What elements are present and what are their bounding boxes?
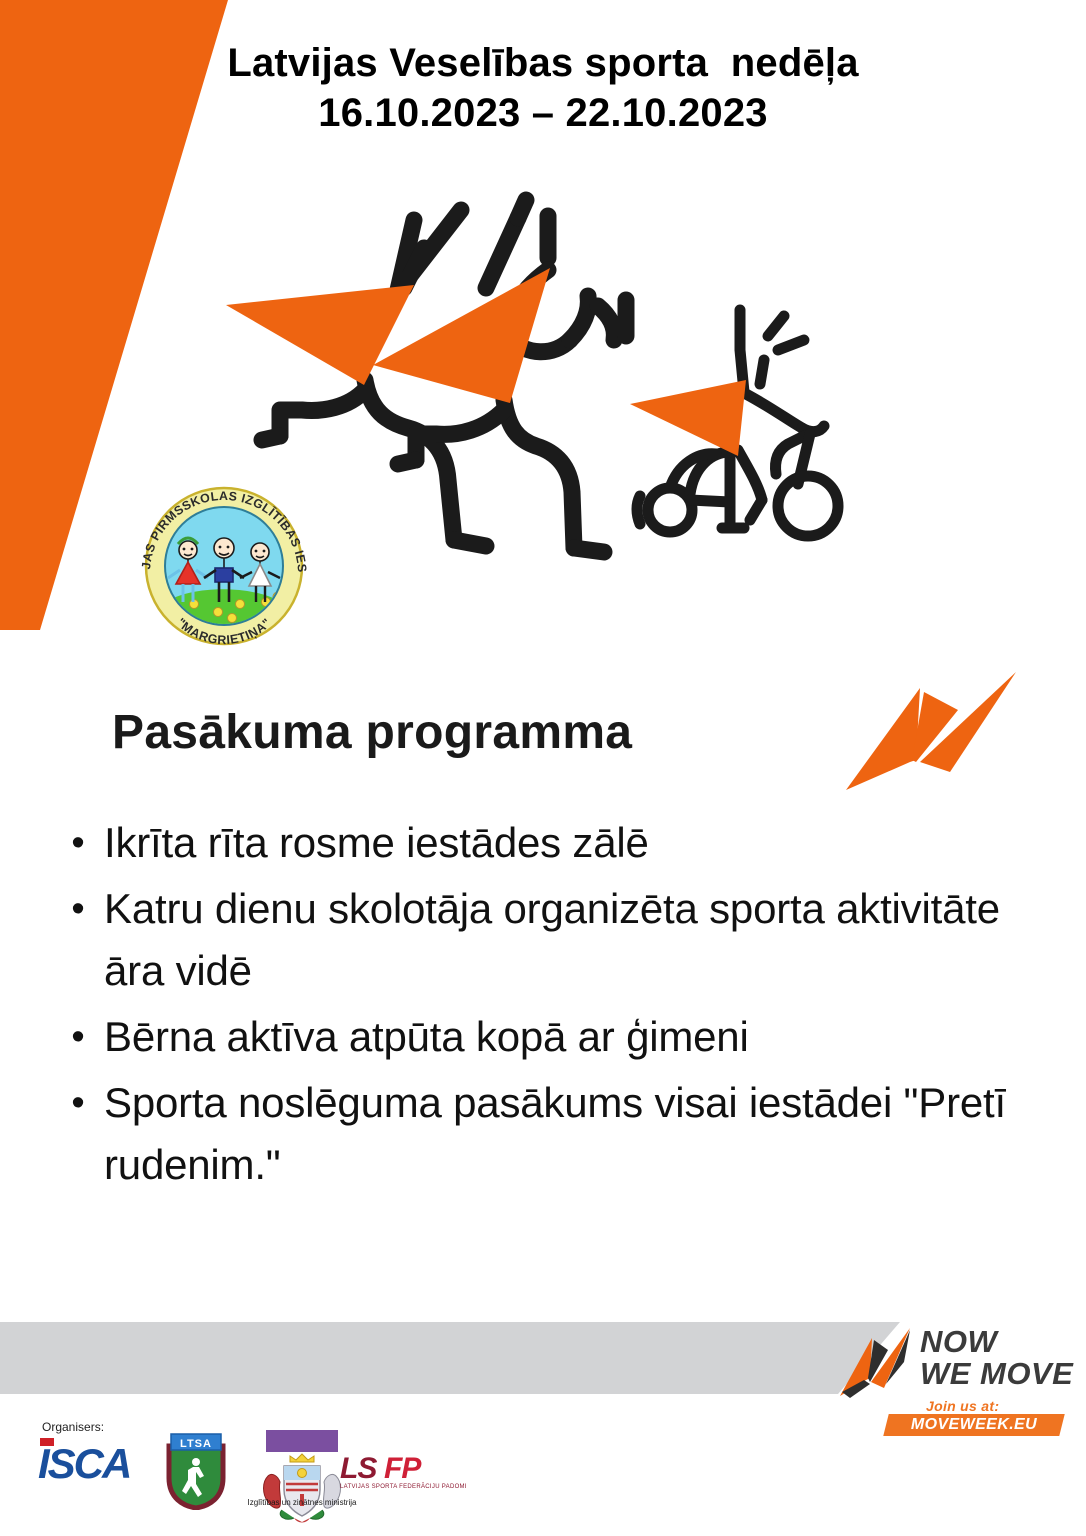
page-title-line1: Latvijas Veselības sporta nedēļa <box>0 38 1086 88</box>
kindergarten-seal-logo: LIEPĀJAS PIRMSSKOLAS IZGLĪTĪBAS IESTĀDE … <box>128 478 320 648</box>
svg-text:LTSA: LTSA <box>180 1438 212 1450</box>
svg-text:FP: FP <box>384 1452 422 1485</box>
izm-coat-of-arms-logo <box>252 1430 352 1534</box>
footer-grey-band <box>0 1322 900 1394</box>
list-item: • Bērna aktīva atpūta kopā ar ģimeni <box>52 1006 1012 1068</box>
list-item: • Sporta noslēguma pasākums visai iestād… <box>52 1072 1012 1196</box>
lsfp-subtitle: LATVIJAS SPORTA FEDERĀCIJU PADOME <box>340 1483 466 1490</box>
program-heading: Pasākuma programma <box>112 705 632 760</box>
list-item-text: Katru dienu skolotāja organizēta sporta … <box>104 878 1012 1002</box>
bullet-glyph: • <box>52 1006 104 1068</box>
poster-header: Latvijas Veselības sporta nedēļa 16.10.2… <box>0 38 1086 138</box>
list-item: • Katru dienu skolotāja organizēta sport… <box>52 878 1012 1002</box>
bullet-glyph: • <box>52 878 104 940</box>
isca-logo: ISCA <box>38 1438 156 1484</box>
izm-logo-text: Izglītības un zinātnes ministrija <box>242 1498 362 1508</box>
now-we-move-line2: WE MOVE <box>920 1358 1073 1390</box>
list-item: • Ikrīta rīta rosme iestādes zālē <box>52 812 1012 874</box>
ltsa-logo: LTSA <box>165 1432 227 1510</box>
organisers-row: Organisers: ISCA LTSA <box>0 1412 1086 1536</box>
bullet-glyph: • <box>52 812 104 874</box>
now-we-move-logo-icon <box>838 1322 914 1402</box>
svg-text:ISCA: ISCA <box>38 1440 130 1484</box>
lsfp-logo: LS FP LATVIJAS SPORTA FEDERĀCIJU PADOME <box>338 1452 466 1494</box>
program-bullet-list: • Ikrīta rīta rosme iestādes zālē • Katr… <box>52 812 1012 1200</box>
list-item-text: Sporta noslēguma pasākums visai iestādei… <box>104 1072 1012 1196</box>
cyclist-illustration <box>612 288 862 550</box>
organisers-label: Organisers: <box>42 1420 104 1434</box>
now-we-move-arrow-icon <box>838 662 1028 797</box>
bullet-glyph: • <box>52 1072 104 1134</box>
list-item-text: Bērna aktīva atpūta kopā ar ģimeni <box>104 1006 1012 1068</box>
svg-text:LS: LS <box>340 1452 377 1485</box>
poster-root: Latvijas Veselības sporta nedēļa 16.10.2… <box>0 0 1086 1536</box>
now-we-move-line1: NOW <box>920 1326 1073 1358</box>
page-title-line2: 16.10.2023 – 22.10.2023 <box>0 88 1086 138</box>
now-we-move-wordmark: NOW WE MOVE <box>920 1326 1073 1390</box>
list-item-text: Ikrīta rīta rosme iestādes zālē <box>104 812 1012 874</box>
